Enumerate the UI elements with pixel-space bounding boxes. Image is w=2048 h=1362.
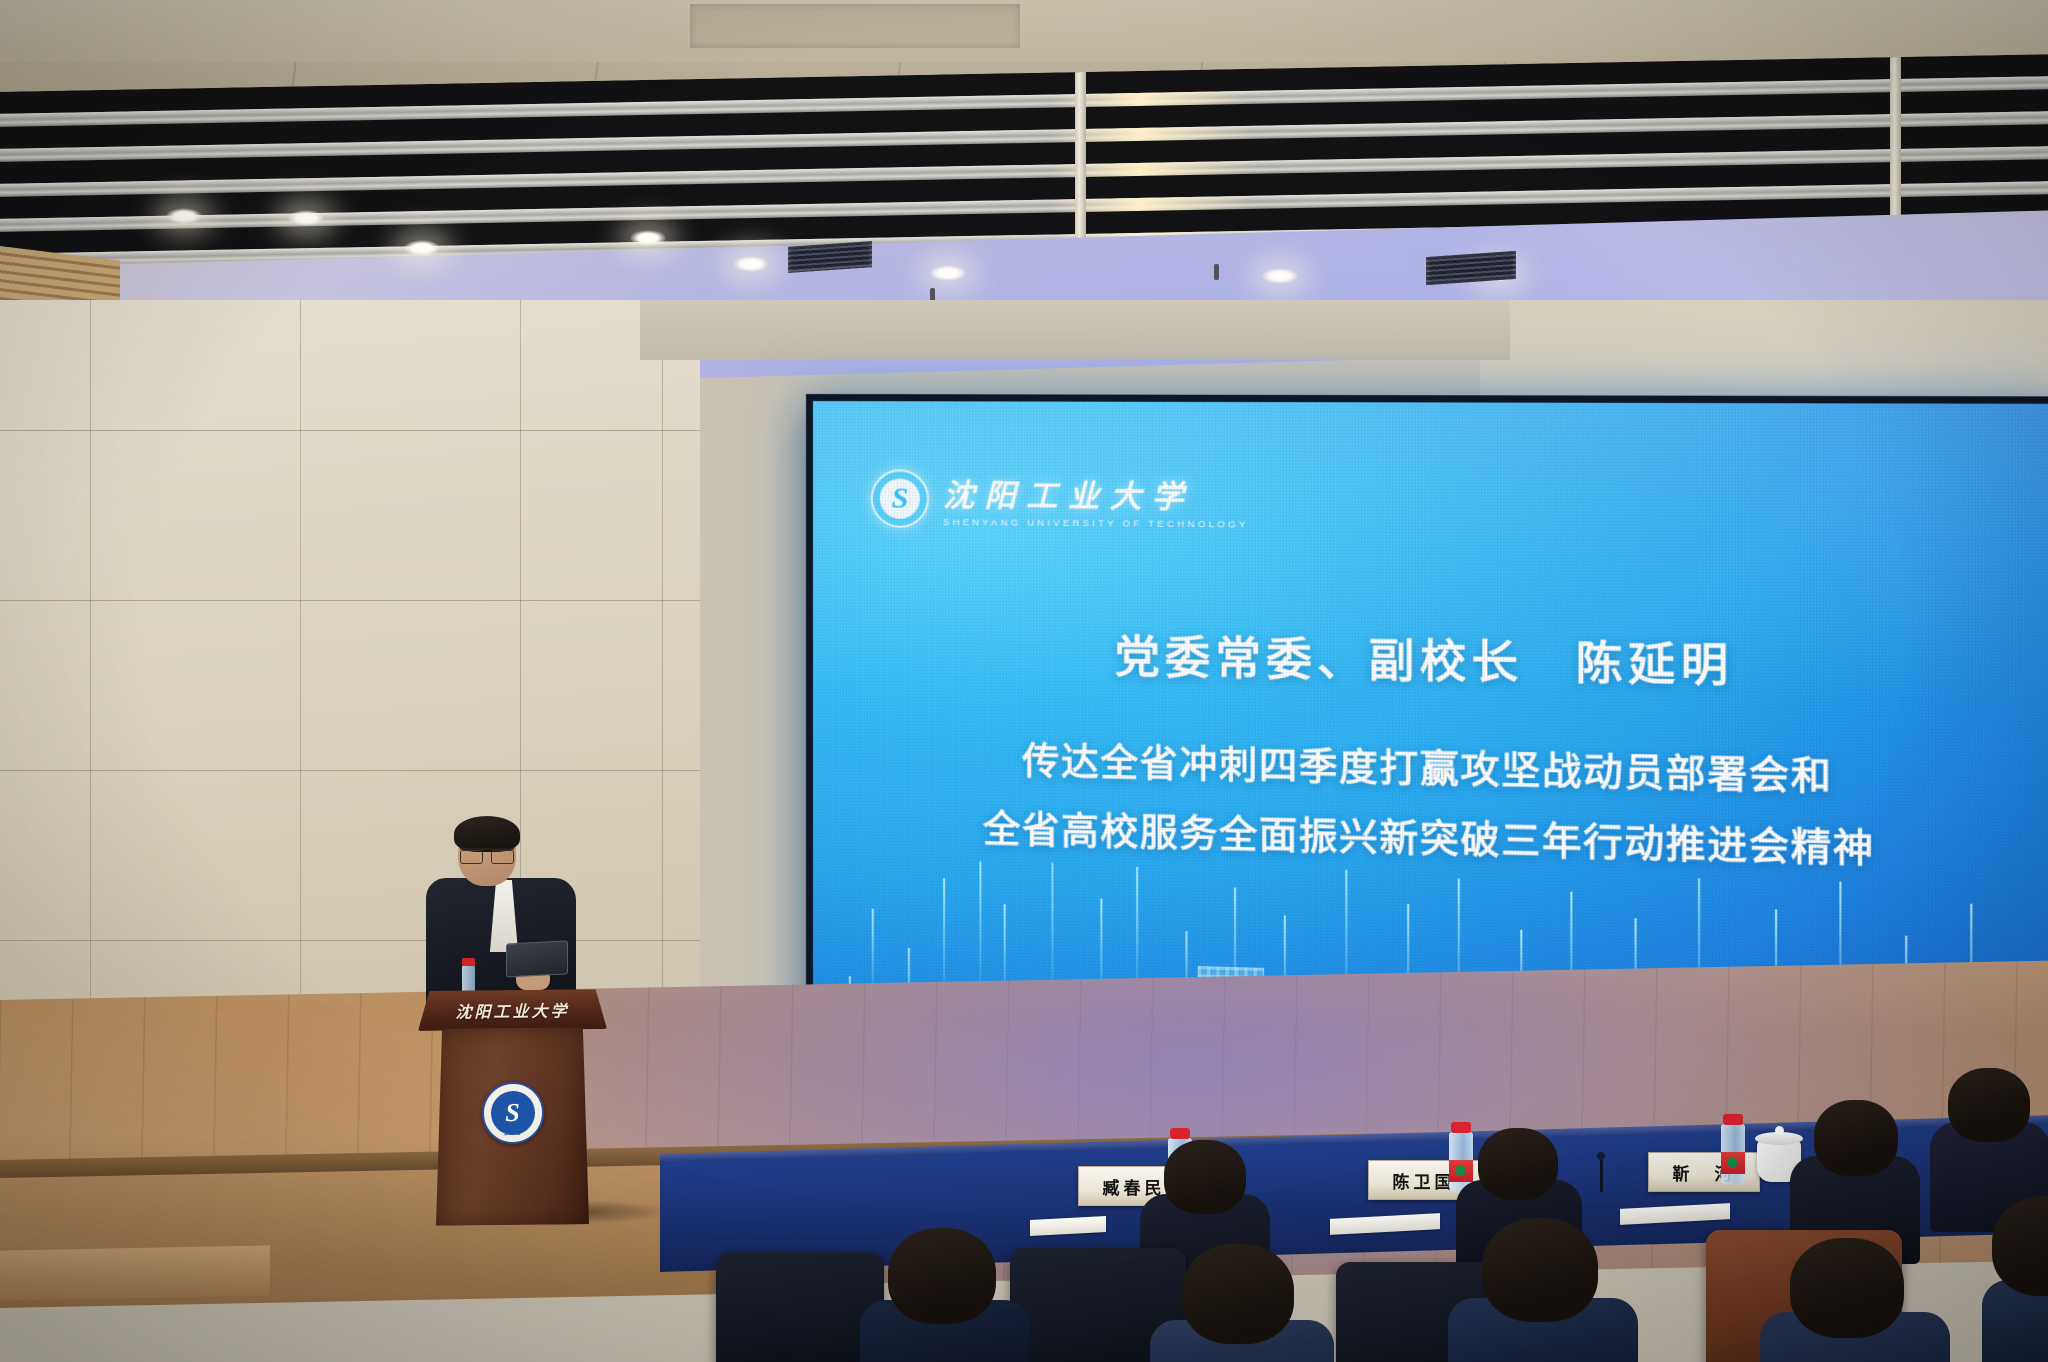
bottle-cap	[462, 958, 475, 966]
podium-university-name: 沈阳工业大学	[430, 997, 595, 1023]
seal-year: 1949	[484, 1130, 542, 1138]
university-emblem-icon: S	[871, 469, 929, 528]
ceiling-downlight	[630, 230, 666, 246]
person-head	[1948, 1068, 2030, 1142]
audience-person-foreground	[1150, 1244, 1334, 1362]
person-head	[1182, 1244, 1294, 1344]
person-head	[1164, 1140, 1246, 1214]
ceiling-downlight	[166, 208, 202, 224]
desk-microphone	[1600, 1158, 1603, 1192]
ceiling-downlight	[288, 210, 324, 226]
ceiling-downlight	[404, 240, 440, 256]
wall-above-screen	[640, 300, 1510, 360]
conference-hall-photo: S 沈阳工业大学 SHENYANG UNIVERSITY OF TECHNOLO…	[0, 0, 2048, 1362]
desk-water-bottle	[1721, 1124, 1745, 1184]
ceiling-hook	[1214, 264, 1219, 280]
speaker-glasses	[460, 848, 514, 860]
nameplate-text: 陈卫国	[1393, 1168, 1456, 1193]
person-head	[1790, 1238, 1904, 1338]
audience-person-foreground	[860, 1228, 1030, 1362]
back-wall-panels	[0, 300, 700, 1080]
audience-person-foreground	[1760, 1238, 1950, 1362]
audience-person-foreground	[1448, 1218, 1638, 1362]
stage-step	[0, 1245, 270, 1300]
emblem-letter: S	[873, 471, 927, 526]
person-head	[1478, 1128, 1558, 1200]
podium-university-seal: S 1949	[482, 1082, 544, 1145]
person-head	[1814, 1100, 1898, 1176]
podium-laptop	[500, 940, 572, 982]
microphone-head-icon	[1597, 1152, 1605, 1160]
person-head	[1482, 1218, 1598, 1322]
laptop-lid	[506, 940, 568, 977]
speaker-hair	[454, 816, 520, 852]
lectern-podium: 沈阳工业大学 S 1949	[430, 989, 595, 1226]
ceiling-downlight	[733, 256, 769, 272]
speaker-person	[430, 820, 590, 1010]
audience-chair	[716, 1252, 884, 1362]
ceiling-tile-strip	[0, 0, 2048, 62]
seal-letter: S	[491, 1091, 535, 1135]
audience-person-foreground	[1982, 1196, 2048, 1362]
ceiling-downlight	[1262, 268, 1298, 284]
person-head	[888, 1228, 996, 1324]
ceiling-downlight	[930, 265, 966, 281]
